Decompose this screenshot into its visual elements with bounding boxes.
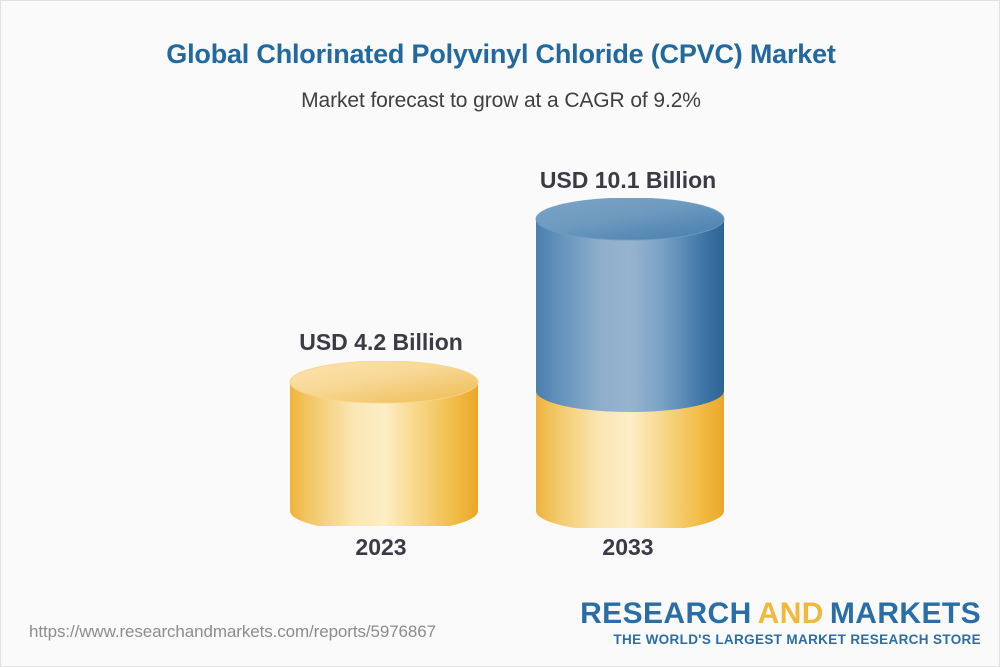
value-label-2033: USD 10.1 Billion	[503, 167, 753, 194]
logo-word-markets: MARKETS	[830, 597, 981, 630]
bar-cylinder-2033-graphic	[530, 198, 725, 528]
logo-tagline: THE WORLD'S LARGEST MARKET RESEARCH STOR…	[580, 633, 981, 647]
logo-wordmark: RESEARCHANDMARKETS	[580, 599, 981, 629]
bar-cylinder-2023-graphic	[284, 361, 479, 526]
report-url[interactable]: https://www.researchandmarkets.com/repor…	[29, 622, 436, 642]
chart-infographic: Global Chlorinated Polyvinyl Chloride (C…	[0, 0, 1000, 667]
bar-cylinder-2023	[284, 361, 479, 526]
logo-word-research: RESEARCH	[580, 597, 752, 630]
chart-plot-area: USD 4.2 Billion USD 10.1 Billion	[1, 1, 1000, 667]
value-label-2023: USD 4.2 Billion	[256, 329, 506, 356]
bar-cylinder-2033	[530, 198, 725, 528]
research-and-markets-logo[interactable]: RESEARCHANDMARKETS THE WORLD'S LARGEST M…	[580, 599, 981, 647]
category-label-2023: 2023	[256, 534, 506, 561]
logo-word-and: AND	[758, 597, 824, 630]
category-label-2033: 2033	[503, 534, 753, 561]
